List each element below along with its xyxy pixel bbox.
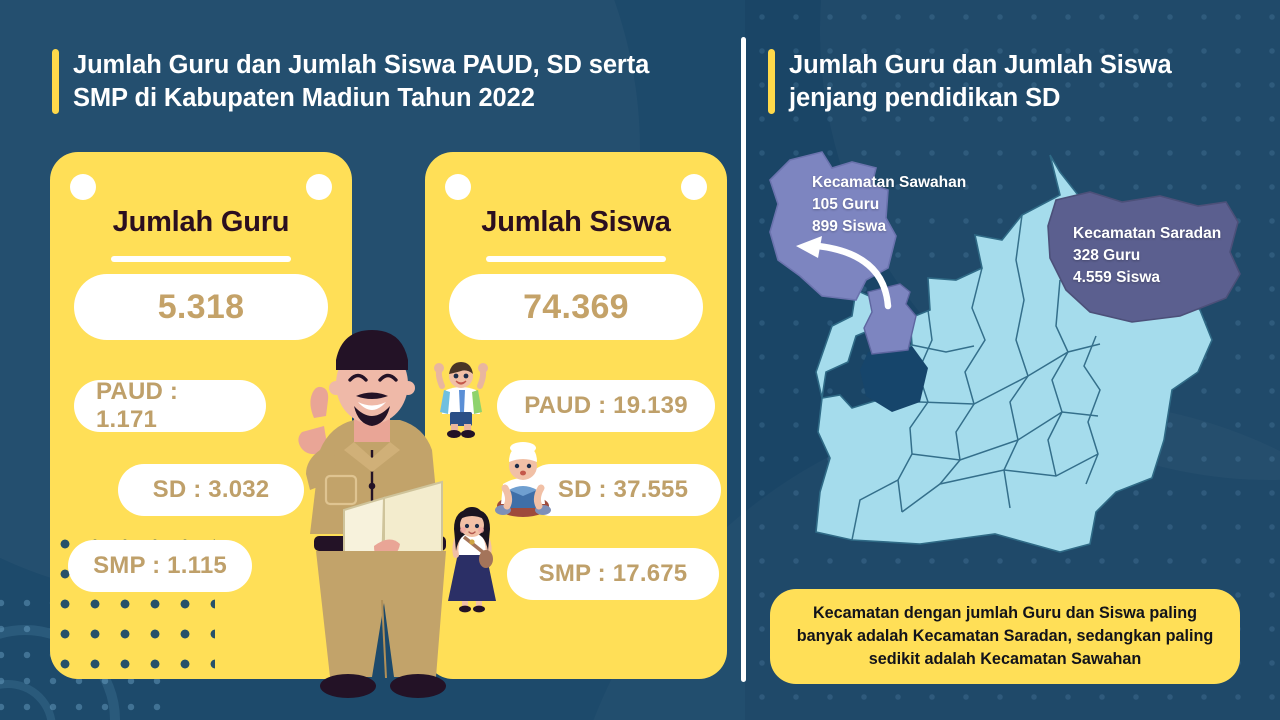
- stat-pill-label: SMP : 17.675: [539, 560, 688, 588]
- map-label-saradan: Kecamatan Saradan 328 Guru 4.559 Siswa: [1073, 223, 1221, 289]
- student-paud-illustration-icon: [430, 358, 492, 438]
- punch-hole-icon: [445, 174, 471, 200]
- left-title-block: Jumlah Guru dan Jumlah Siswa PAUD, SD se…: [52, 49, 712, 115]
- punch-hole-icon: [70, 174, 96, 200]
- stat-pill-label: SMP : 1.115: [93, 552, 227, 580]
- right-title-text: Jumlah Guru dan Jumlah Siswa jenjang pen…: [789, 49, 1172, 115]
- stat-pill-label: PAUD : 19.139: [524, 392, 688, 420]
- stat-pill-smp: SMP : 17.675: [507, 548, 719, 600]
- stat-pill-paud: PAUD : 1.171: [74, 380, 266, 432]
- stat-pill-label: SD : 37.555: [558, 476, 688, 504]
- punch-hole-icon: [681, 174, 707, 200]
- accent-bar-icon: [768, 49, 775, 114]
- punch-hole-icon: [306, 174, 332, 200]
- card-total-pill: 74.369: [449, 274, 703, 340]
- card-heading: Jumlah Siswa: [425, 206, 727, 239]
- stat-pill-smp: SMP : 1.115: [68, 540, 252, 592]
- card-heading: Jumlah Guru: [50, 206, 352, 239]
- student-smp-illustration-icon: [440, 505, 504, 613]
- stat-pill-label: SD : 3.032: [153, 476, 270, 504]
- map-region-sawahan-actual: [864, 284, 916, 354]
- heading-underline: [111, 256, 291, 262]
- accent-bar-icon: [52, 49, 59, 114]
- left-title-text: Jumlah Guru dan Jumlah Siswa PAUD, SD se…: [73, 49, 649, 115]
- map-label-sawahan: Kecamatan Sawahan 105 Guru 899 Siswa: [812, 172, 966, 238]
- heading-underline: [486, 256, 666, 262]
- stat-pill-paud: PAUD : 19.139: [497, 380, 715, 432]
- card-total-value: 5.318: [158, 288, 245, 327]
- summary-note: Kecamatan dengan jumlah Guru dan Siswa p…: [770, 589, 1240, 684]
- card-total-value: 74.369: [523, 288, 629, 327]
- infographic-canvas: Jumlah Guru dan Jumlah Siswa PAUD, SD se…: [0, 0, 1280, 720]
- right-title-block: Jumlah Guru dan Jumlah Siswa jenjang pen…: [768, 49, 1238, 115]
- stat-pill-label: PAUD : 1.171: [96, 378, 244, 434]
- vertical-divider: [741, 37, 746, 682]
